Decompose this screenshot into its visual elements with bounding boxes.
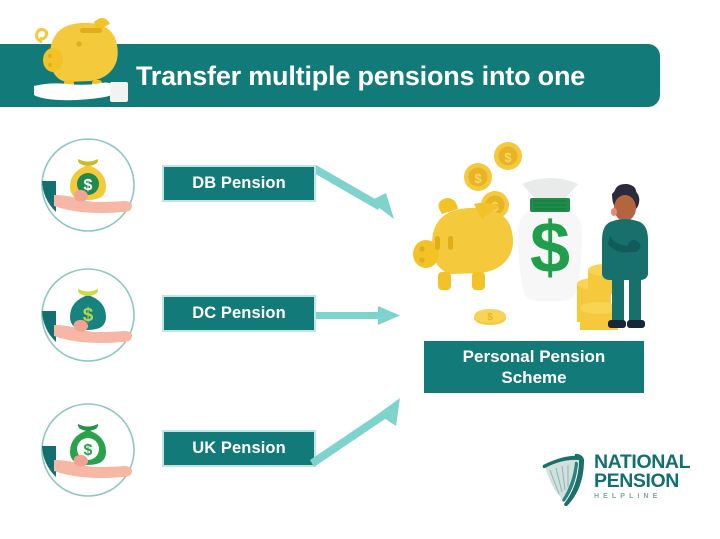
dollar-sign: $ bbox=[530, 208, 570, 288]
destination-label-line2: Scheme bbox=[501, 368, 566, 387]
source-row: $ DC Pension bbox=[0, 265, 420, 375]
source-row: $ UK Pension bbox=[0, 400, 420, 510]
coin: $ bbox=[464, 163, 492, 191]
pension-label-uk[interactable]: UK Pension bbox=[164, 432, 314, 465]
coin: $ bbox=[494, 142, 522, 170]
destination-label-line1: Personal Pension bbox=[463, 347, 606, 366]
national-pension-helpline-logo[interactable]: NATIONAL PENSION HELPLINE bbox=[537, 448, 707, 510]
infographic-canvas: Transfer multiple pensions into one $ DB… bbox=[0, 0, 720, 539]
yellow-money-bag-in-hand-icon: $ bbox=[38, 135, 138, 235]
arrow-down-right-icon bbox=[316, 155, 408, 232]
arrow-right-icon bbox=[316, 301, 408, 336]
logo-text: NATIONAL PENSION HELPLINE bbox=[594, 453, 709, 503]
svg-text:$: $ bbox=[474, 171, 482, 186]
svg-text:$: $ bbox=[487, 312, 493, 323]
teal-money-bag-in-hand-icon: $ bbox=[38, 265, 138, 365]
green-money-bag-in-hand-icon: $ bbox=[38, 400, 138, 500]
svg-text:$: $ bbox=[504, 150, 512, 165]
irish-harp-icon bbox=[537, 450, 593, 506]
source-row: $ DB Pension bbox=[0, 135, 420, 245]
piggy-bank-money-bag-coins-person-illustration: $ $ $ bbox=[402, 132, 672, 332]
pension-label-dc[interactable]: DC Pension bbox=[164, 297, 314, 330]
arrow-up-right-icon bbox=[310, 388, 408, 473]
piggy-bank-with-hand-icon bbox=[24, 8, 140, 108]
destination-label[interactable]: Personal Pension Scheme bbox=[424, 341, 644, 393]
coin: $ bbox=[474, 309, 506, 325]
pension-label-db[interactable]: DB Pension bbox=[164, 167, 314, 200]
money-bag-icon: $ bbox=[518, 178, 582, 301]
logo-line-pension: PENSION bbox=[594, 472, 709, 491]
page-title: Transfer multiple pensions into one bbox=[136, 56, 636, 96]
logo-line-helpline: HELPLINE bbox=[594, 491, 709, 503]
